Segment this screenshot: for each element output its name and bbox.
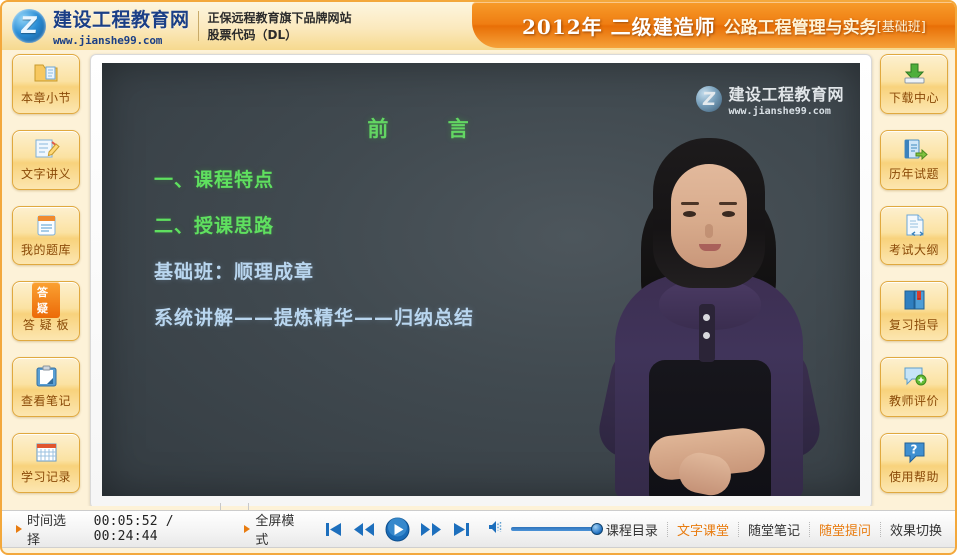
course-player-window: 建设工程教育网 www.jianshe99.com 正保远程教育旗下品牌网站 股…: [0, 0, 957, 555]
watermark-name: 建设工程教育网: [728, 81, 844, 105]
transport-controls: [324, 517, 471, 542]
lecture-blackboard: 前 言 一、课程特点 二、授课思路 基础班：顺理成章 系统讲解——提炼精华——归…: [154, 113, 624, 349]
sidebar-item-past-exams[interactable]: 历年试题: [880, 130, 948, 190]
play-icon[interactable]: [385, 517, 410, 542]
sidebar-item-review-guide[interactable]: 复习指导: [880, 281, 948, 341]
book-arrow-icon: [900, 136, 928, 162]
time-select-button[interactable]: 时间选择: [16, 510, 68, 548]
sidebar-label: 文字讲义: [21, 165, 71, 182]
time-select-label: 时间选择: [27, 510, 68, 548]
sidebar-label: 下载中心: [889, 89, 939, 106]
player-control-bar: 时间选择 00:05:52 / 00:24:44 全屏模式: [2, 510, 957, 548]
sidebar-label: 复习指导: [889, 316, 939, 333]
svg-text:?: ?: [910, 443, 917, 457]
video-player[interactable]: 建设工程教育网 www.jianshe99.com 前 言 一、课程特点 二、授…: [102, 63, 860, 496]
qa-badge-icon: 答疑: [32, 287, 60, 313]
course-title-banner: 2012年 二级建造师 公路工程管理与实务 [基础班]: [472, 2, 957, 48]
rewind-icon[interactable]: [353, 521, 375, 538]
blackboard-line: 基础班：顺理成章: [154, 257, 624, 284]
document-code-icon: [900, 212, 928, 238]
fullscreen-button[interactable]: 全屏模式: [244, 510, 296, 548]
sidebar-item-qa-board[interactable]: 答疑 答 疑 板: [12, 281, 80, 341]
brand-name: 建设工程教育网: [53, 5, 190, 32]
open-book-bookmark-icon: [900, 287, 928, 313]
lecturer-nose: [705, 224, 713, 238]
lecturer-brow: [681, 202, 699, 205]
prev-track-icon[interactable]: [324, 521, 343, 538]
speech-bubble-plus-icon: [900, 363, 928, 389]
sidebar-label: 本章小节: [21, 89, 71, 106]
nav-link-class-questions[interactable]: 随堂提问: [810, 520, 880, 539]
sidebar-label: 答 疑 板: [23, 316, 69, 333]
triangle-right-icon: [16, 525, 22, 533]
sidebar-label: 教师评价: [889, 392, 939, 409]
sidebar-item-view-notes[interactable]: 查看笔记: [12, 357, 80, 417]
player-nav-links: 课程目录 文字课堂 随堂笔记 随堂提问 效果切换: [597, 520, 951, 539]
watermark-url: www.jianshe99.com: [728, 106, 844, 117]
sidebar-label: 我的题库: [21, 241, 71, 258]
sidebar-item-usage-help[interactable]: ? 使用帮助: [880, 433, 948, 493]
volume-control[interactable]: [487, 519, 597, 539]
sidebar-label: 历年试题: [889, 165, 939, 182]
video-stage: 建设工程教育网 www.jianshe99.com 前 言 一、课程特点 二、授…: [90, 54, 872, 509]
brand-tagline: 正保远程教育旗下品牌网站 股票代码（DL）: [208, 9, 352, 43]
brand-url: www.jianshe99.com: [53, 34, 190, 47]
lecturer-mouth: [699, 244, 721, 251]
tagline-line-2: 股票代码（DL）: [208, 26, 352, 43]
next-track-icon[interactable]: [452, 521, 471, 538]
sidebar-item-study-record[interactable]: 学习记录: [12, 433, 80, 493]
sidebar-item-teacher-rating[interactable]: 教师评价: [880, 357, 948, 417]
blackboard-line: 一、课程特点: [154, 165, 624, 192]
lecturer-face: [671, 164, 747, 268]
nav-link-text-classroom[interactable]: 文字课堂: [668, 520, 738, 539]
blackboard-line: 系统讲解——提炼精华——归纳总结: [154, 303, 624, 330]
sidebar-item-download-center[interactable]: 下载中心: [880, 54, 948, 114]
toolbar-tick: [248, 503, 249, 510]
brand-divider: [198, 11, 199, 41]
fast-forward-icon[interactable]: [420, 521, 442, 538]
banner-course-name: 公路工程管理与实务: [724, 13, 877, 38]
help-question-icon: ?: [900, 439, 928, 465]
sidebar-item-chapter-outline[interactable]: 本章小节: [12, 54, 80, 114]
site-brand[interactable]: 建设工程教育网 www.jianshe99.com 正保远程教育旗下品牌网站 股…: [12, 6, 352, 46]
download-arrow-icon: [900, 60, 928, 86]
volume-slider-track[interactable]: [511, 527, 597, 531]
time-display: 00:05:52 / 00:24:44: [94, 514, 219, 544]
sidebar-label: 使用帮助: [889, 468, 939, 485]
blackboard-title: 前 言: [212, 113, 624, 143]
jianshe99-logo-icon: [12, 9, 46, 43]
folder-document-icon: [32, 60, 60, 86]
lecturer-figure: [601, 136, 816, 496]
app-header: 建设工程教育网 www.jianshe99.com 正保远程教育旗下品牌网站 股…: [2, 2, 957, 50]
sidebar-label: 学习记录: [21, 468, 71, 485]
blackboard-line: 二、授课思路: [154, 211, 624, 238]
lecturer-brow: [719, 202, 737, 205]
right-sidebar: 下载中心 历年试题 考试大纲: [873, 54, 955, 509]
banner-class-type: [基础班]: [877, 16, 926, 35]
brand-text: 建设工程教育网 www.jianshe99.com: [53, 5, 190, 47]
lecturer-eye: [683, 211, 696, 217]
nav-link-effect-switch[interactable]: 效果切换: [881, 520, 951, 539]
sidebar-label: 考试大纲: [889, 241, 939, 258]
triangle-right-icon: [244, 525, 250, 533]
toolbar-tick: [220, 503, 221, 510]
nav-link-class-notes[interactable]: 随堂笔记: [739, 520, 809, 539]
banner-year-exam: 2012年 二级建造师: [522, 11, 716, 40]
lecturer-button: [703, 314, 710, 321]
clipboard-lines-icon: [32, 212, 60, 238]
sidebar-item-my-question-bank[interactable]: 我的题库: [12, 206, 80, 266]
speaker-icon[interactable]: [487, 519, 505, 539]
sidebar-item-exam-syllabus[interactable]: 考试大纲: [880, 206, 948, 266]
sidebar-label: 查看笔记: [21, 392, 71, 409]
volume-slider-knob[interactable]: [591, 523, 603, 535]
video-watermark: 建设工程教育网 www.jianshe99.com: [696, 81, 844, 117]
qa-badge-text: 答疑: [32, 282, 60, 318]
nav-link-course-catalog[interactable]: 课程目录: [597, 520, 667, 539]
notepad-icon: [32, 363, 60, 389]
fullscreen-label: 全屏模式: [255, 510, 296, 548]
lecturer-button: [703, 332, 710, 339]
left-sidebar: 本章小节 文字讲义 我的题库: [2, 54, 90, 509]
watermark-logo-icon: [696, 86, 722, 112]
tagline-line-1: 正保远程教育旗下品牌网站: [208, 9, 352, 26]
lecturer-eye: [722, 211, 735, 217]
sidebar-item-text-lecture[interactable]: 文字讲义: [12, 130, 80, 190]
pencil-note-icon: [32, 136, 60, 162]
calendar-grid-icon: [32, 439, 60, 465]
